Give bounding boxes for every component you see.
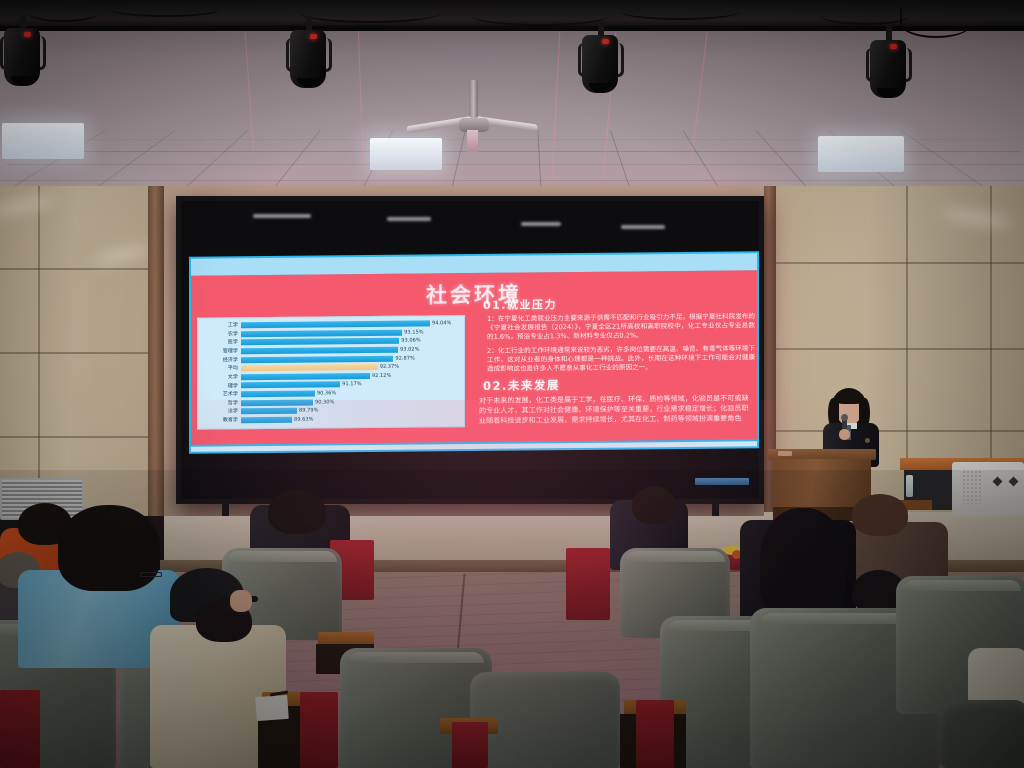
wall-column-left — [148, 186, 164, 516]
seat-base — [452, 722, 488, 768]
chart-category-label: 医学 — [200, 339, 241, 347]
section-1-paragraph-1: 1：在宁夏化工类就业压力主要来源于供需不匹配和行业吸引力不足。根据宁夏社科院发布… — [487, 312, 755, 342]
stage-light — [286, 22, 332, 94]
seat-base — [300, 692, 338, 768]
chart-category-label: 农学 — [200, 330, 241, 338]
chart-category-label: 法学 — [200, 408, 241, 416]
chart-category-label: 工学 — [200, 321, 241, 329]
chart-bar — [241, 417, 292, 423]
chart-value-label: 92.37% — [380, 363, 399, 371]
audience-screen-left-head — [632, 486, 676, 524]
chart-category-label: 理学 — [200, 382, 241, 390]
water-bottle[interactable] — [906, 475, 913, 497]
led-display-screen[interactable]: 社会环境 工学94.04%农学93.15%医学93.06%管理学93.02%经济… — [176, 196, 764, 504]
section-1-heading: 01.就业压力 — [483, 294, 755, 313]
ceiling — [0, 0, 1024, 205]
ceiling-light-panel — [2, 123, 84, 159]
slide-text-column: 01.就业压力 1：在宁夏化工类就业压力主要来源于供需不匹配和行业吸引力不足。根… — [473, 294, 755, 426]
ceiling-light-panel — [818, 136, 904, 172]
chart-value-label: 93.02% — [400, 345, 419, 353]
chart-bar — [241, 391, 315, 398]
seat-base — [0, 690, 40, 768]
microphone-head — [841, 414, 848, 421]
section-1-paragraph-2: 2：化工行业的工作环境通常来说较为恶劣，许多岗位需要在高温、噪音、有毒气体等环境… — [487, 344, 755, 374]
seat-base — [636, 700, 674, 768]
audience-long-hair-head — [760, 508, 846, 618]
ceiling-fan — [420, 80, 530, 150]
presenter-lapel-pin — [865, 438, 870, 443]
chart-bar — [241, 338, 399, 346]
chart-value-label: 89.79% — [299, 407, 318, 415]
chart-value-label: 92.12% — [372, 372, 391, 380]
bar-chart: 工学94.04%农学93.15%医学93.06%管理学93.02%经济学92.8… — [197, 315, 465, 430]
audience-brown-coat-head — [852, 494, 908, 536]
chart-category-label: 哲学 — [200, 399, 241, 407]
chart-bar — [241, 355, 393, 362]
chart-category-label: 平均 — [200, 364, 241, 372]
chart-category-label: 经济学 — [200, 356, 241, 364]
chart-value-label: 93.06% — [401, 337, 420, 345]
chart-value-label: 90.36% — [317, 389, 336, 397]
chart-bar — [241, 408, 297, 415]
chart-bar — [241, 347, 398, 355]
presenter-hand — [839, 429, 850, 440]
audience-cap-hand — [230, 590, 252, 612]
section-2-paragraph: 对于未来的发展，化工类是属于工学，在医疗、环保、质检等领域，化验员是不可或缺的专… — [479, 394, 755, 427]
notepad[interactable] — [255, 695, 289, 721]
stage-light — [866, 32, 912, 104]
chart-bar — [241, 329, 402, 337]
chart-category-label: 文学 — [200, 373, 241, 381]
chart-value-label: 91.17% — [342, 381, 361, 389]
chart-value-label: 89.63% — [294, 416, 313, 424]
podium-emblem — [778, 451, 792, 456]
chart-value-label: 90.30% — [315, 398, 334, 406]
chart-value-label: 92.87% — [395, 354, 414, 362]
slide-content-area: 社会环境 工学94.04%农学93.15%医学93.06%管理学93.02%经济… — [191, 270, 757, 444]
chart-bar — [241, 373, 370, 380]
audience-front-suit-head — [268, 490, 326, 534]
chart-row: 教育学89.63% — [200, 414, 460, 425]
chart-category-label: 教育学 — [200, 416, 241, 424]
console-speaker-grille — [962, 470, 982, 504]
section-2-heading: 02.未来发展 — [483, 376, 755, 395]
stage-light — [0, 20, 46, 92]
presentation-toolbar[interactable] — [695, 478, 749, 485]
chart-bar — [241, 382, 340, 389]
glasses — [140, 572, 162, 577]
chart-bar-track: 89.63% — [241, 414, 460, 424]
seat-base — [566, 548, 610, 620]
chart-bar — [241, 364, 378, 371]
audience-blue-hoodie-head — [58, 505, 160, 591]
chart-value-label: 94.04% — [432, 319, 451, 327]
chart-bar — [241, 320, 430, 328]
presentation-slide[interactable]: 社会环境 工学94.04%农学93.15%医学93.06%管理学93.02%经济… — [189, 251, 759, 453]
stage-light — [578, 27, 624, 99]
lecture-hall-photo: 社会环境 工学94.04%农学93.15%医学93.06%管理学93.02%经济… — [0, 0, 1024, 768]
truss-edge — [0, 26, 1024, 31]
chart-category-label: 艺术学 — [200, 390, 241, 398]
chart-bar — [241, 399, 313, 406]
chart-value-label: 93.15% — [404, 328, 423, 336]
chart-category-label: 管理学 — [200, 347, 241, 355]
seat-back[interactable] — [940, 700, 1024, 768]
